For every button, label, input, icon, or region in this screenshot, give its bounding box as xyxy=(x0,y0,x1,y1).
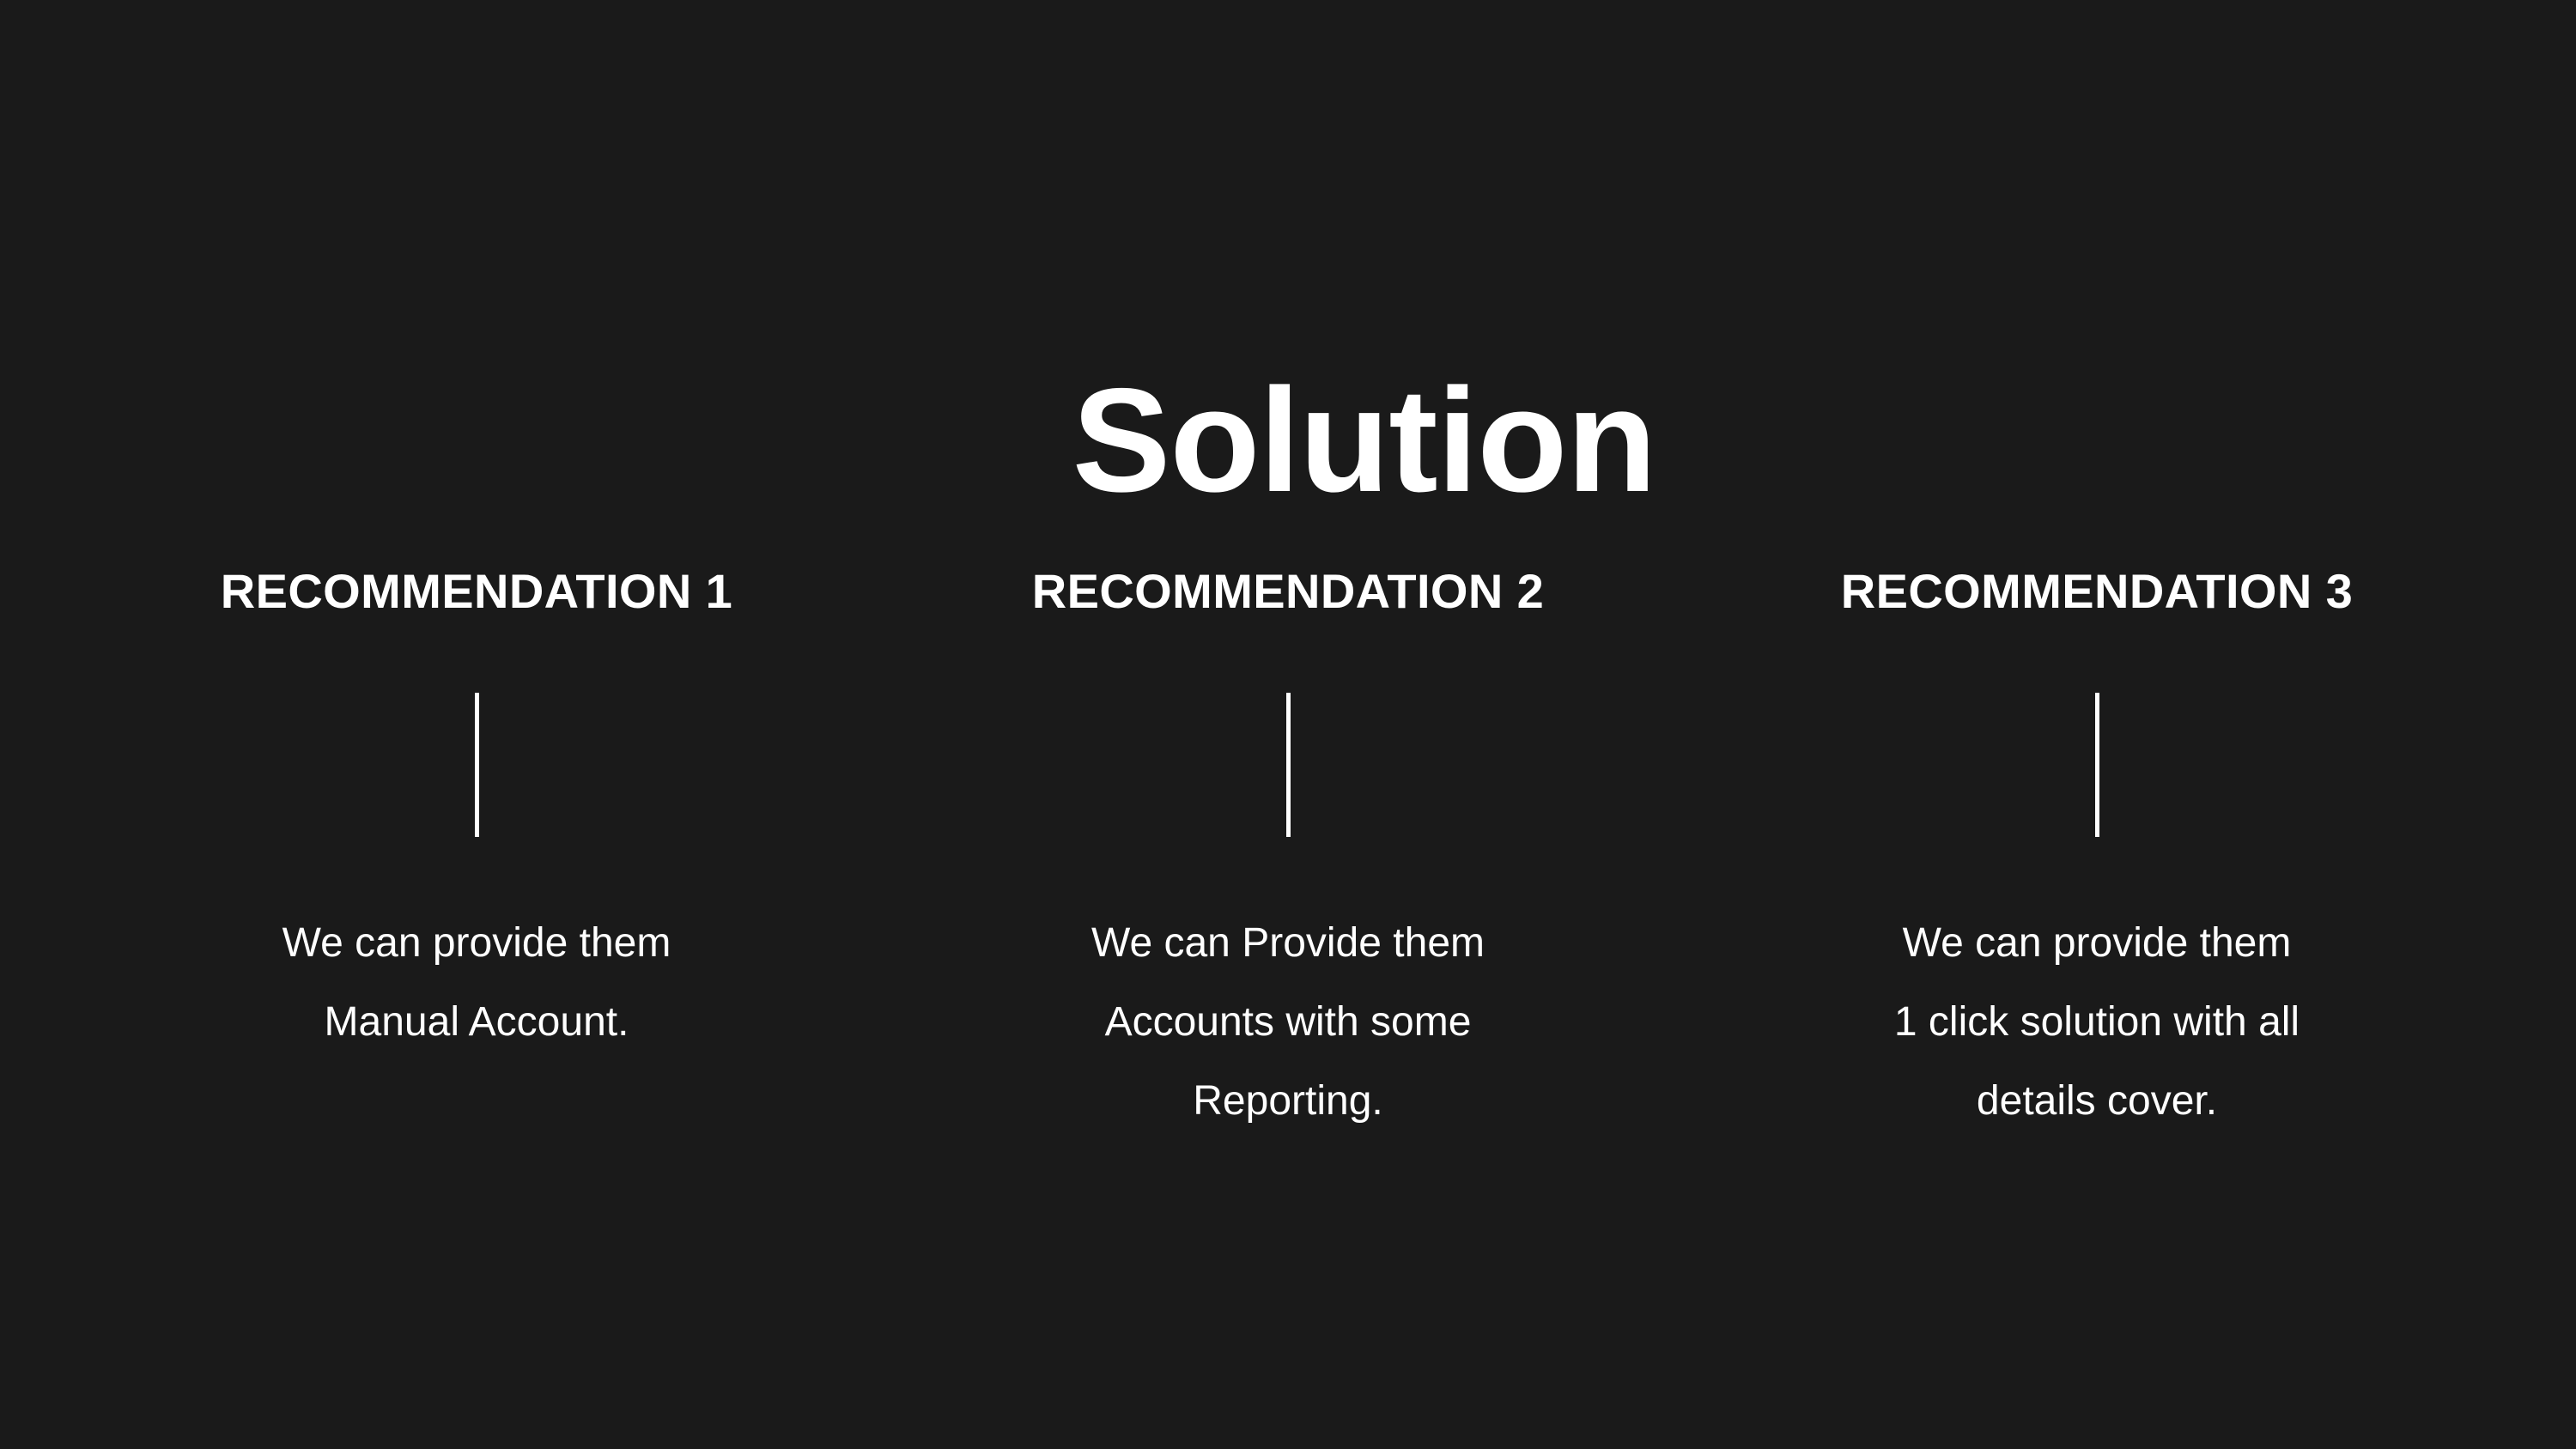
recommendation-body-3: We can provide them 1 click solution wit… xyxy=(1710,904,2483,1141)
vertical-divider-3 xyxy=(2095,693,2099,837)
presentation-slide: Solution RECOMMENDATION 1 We can provide… xyxy=(0,0,2576,1449)
page-title-text: Solution xyxy=(1072,367,1656,514)
recommendation-column-3: RECOMMENDATION 3 We can provide them 1 c… xyxy=(1710,567,2483,1141)
vertical-divider-2 xyxy=(1286,693,1291,837)
body-line: We can provide them xyxy=(90,904,863,983)
recommendation-column-1: RECOMMENDATION 1 We can provide them Man… xyxy=(90,567,863,1062)
recommendation-body-1: We can provide them Manual Account. xyxy=(90,904,863,1062)
body-line: 1 click solution with all xyxy=(1710,983,2483,1062)
body-line: details cover. xyxy=(1710,1062,2483,1141)
recommendation-heading-1: RECOMMENDATION 1 xyxy=(221,567,732,617)
recommendation-body-2: We can Provide them Accounts with some R… xyxy=(902,904,1674,1141)
recommendation-heading-2: RECOMMENDATION 2 xyxy=(1032,567,1544,617)
body-line: We can provide them xyxy=(1710,904,2483,983)
recommendation-column-2: RECOMMENDATION 2 We can Provide them Acc… xyxy=(902,567,1674,1141)
body-line: Accounts with some xyxy=(902,983,1674,1062)
body-line: Reporting. xyxy=(902,1062,1674,1141)
vertical-divider-1 xyxy=(475,693,479,837)
recommendation-columns: RECOMMENDATION 1 We can provide them Man… xyxy=(0,567,2576,1219)
recommendation-heading-3: RECOMMENDATION 3 xyxy=(1841,567,2353,617)
body-line: Manual Account. xyxy=(90,983,863,1062)
body-line: We can Provide them xyxy=(902,904,1674,983)
